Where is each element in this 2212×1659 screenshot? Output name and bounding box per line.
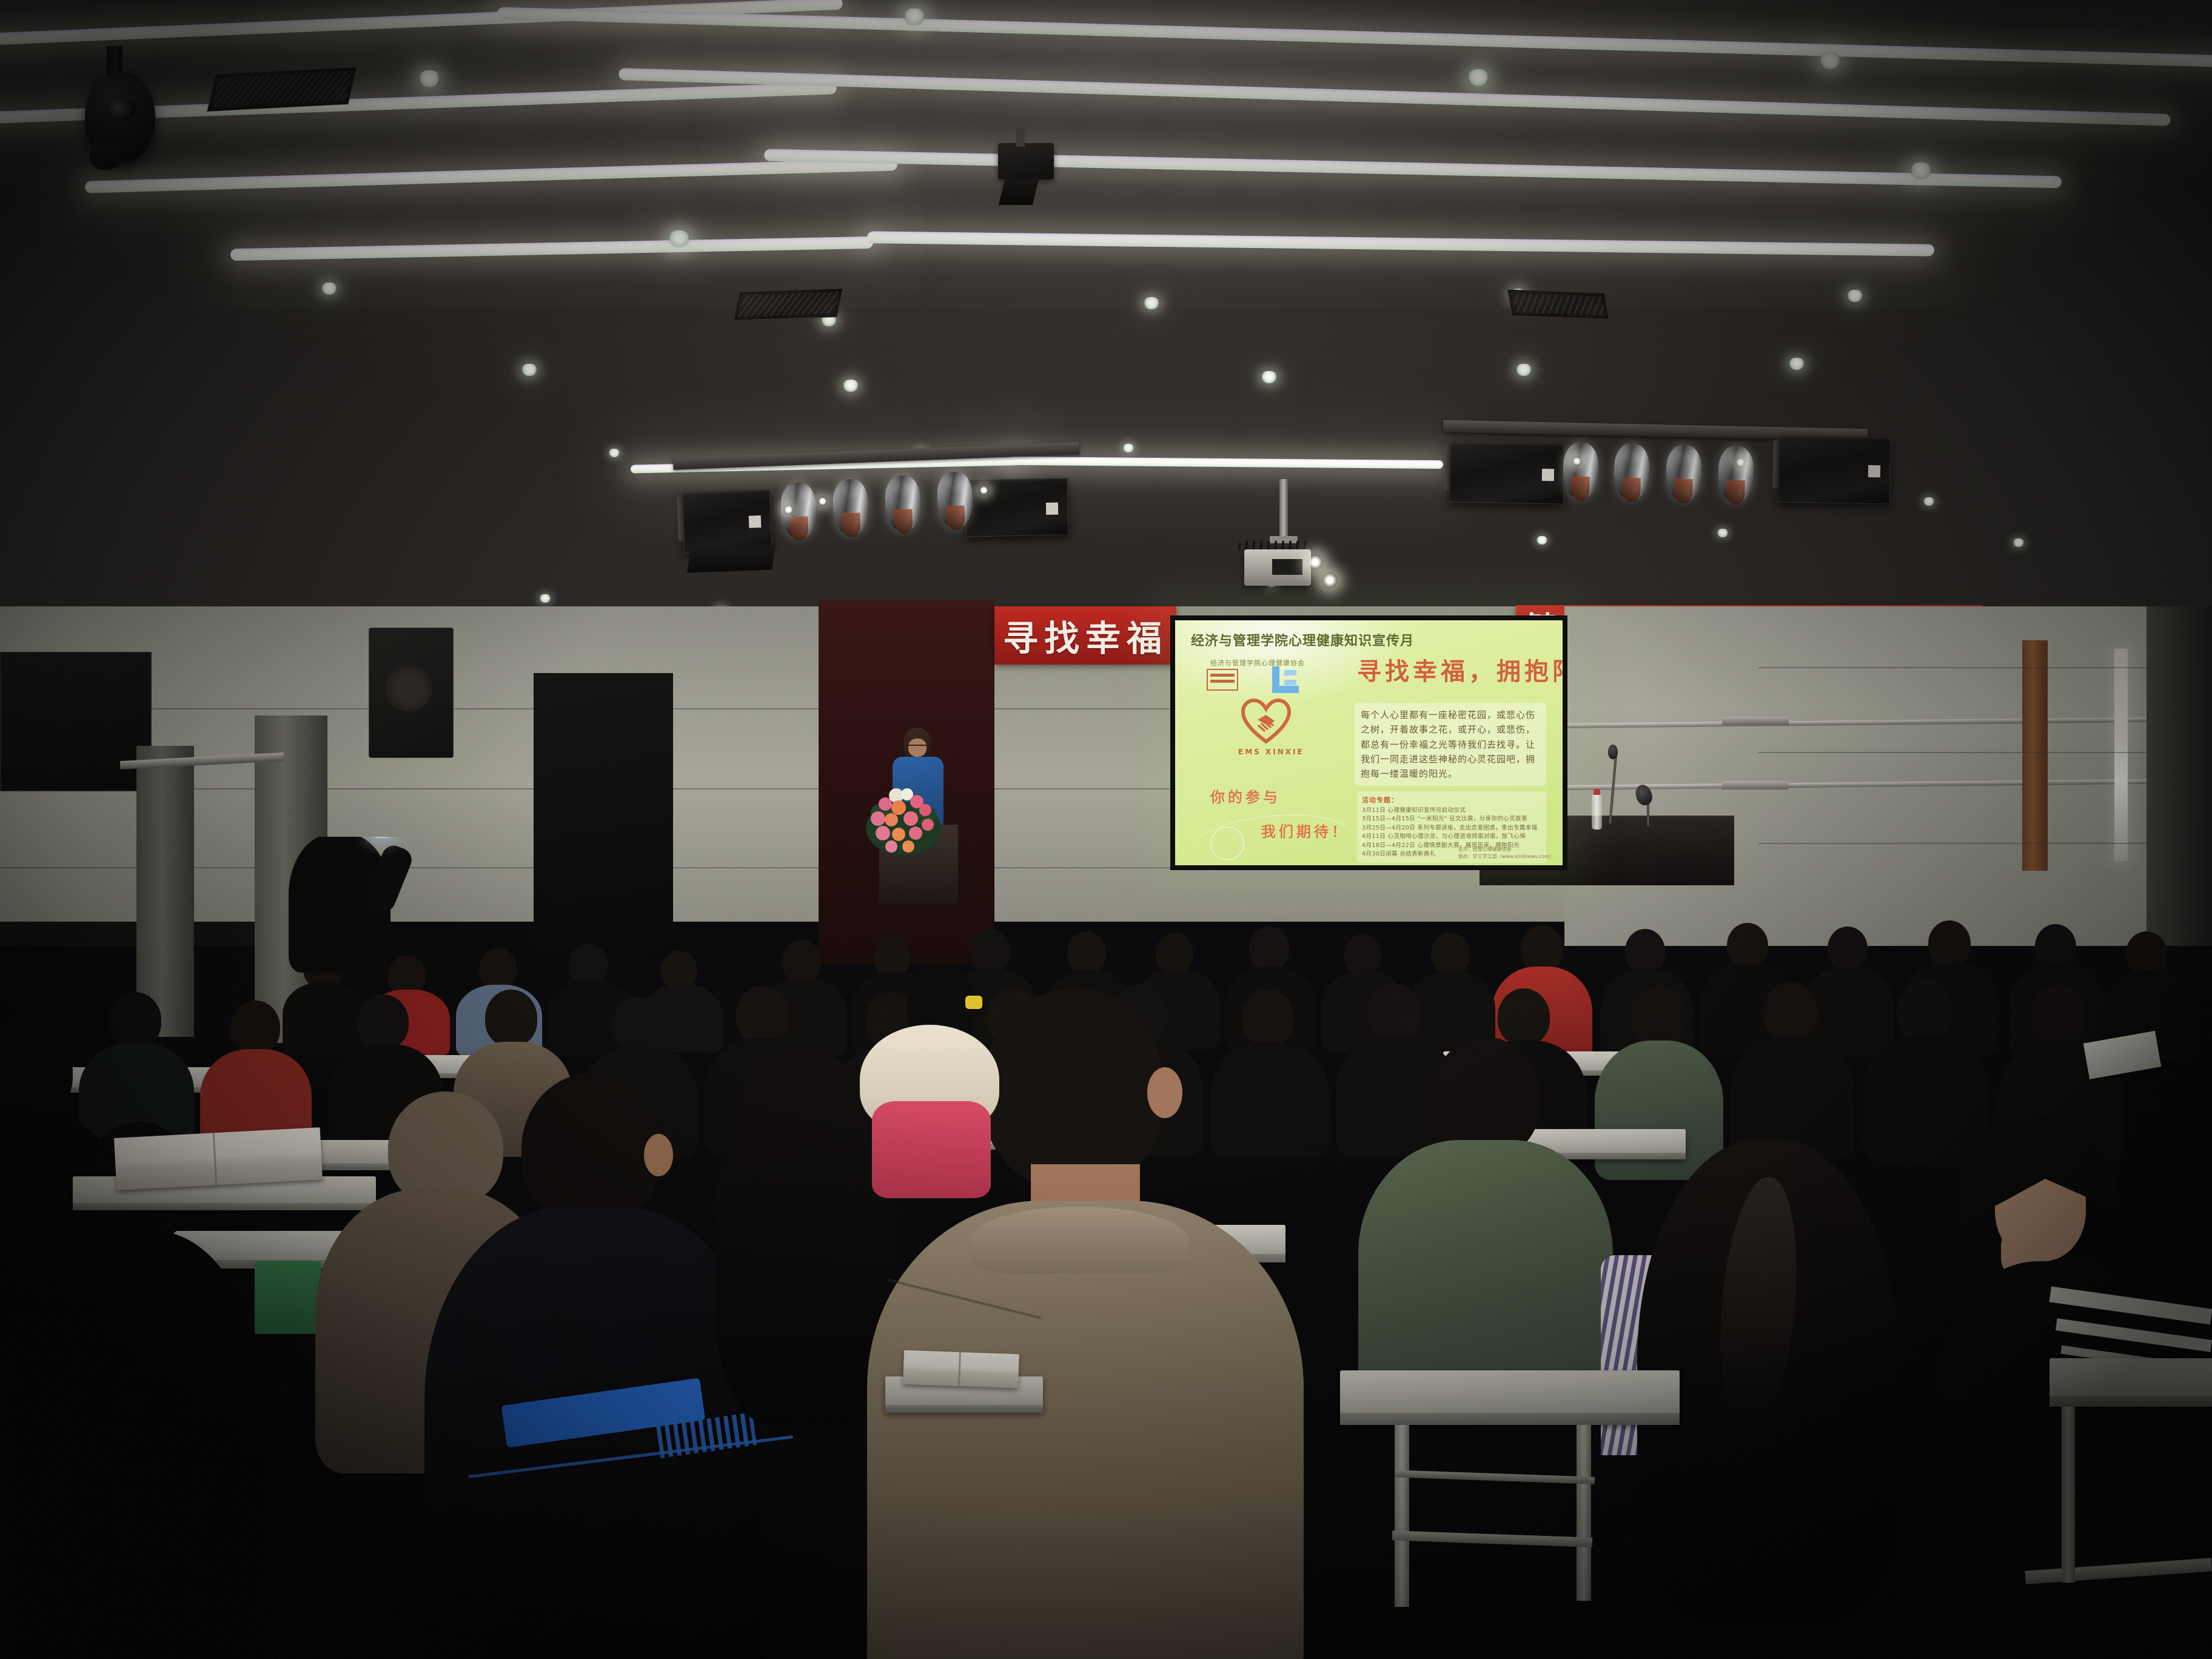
stage-reflector-lamp: [832, 478, 869, 535]
projection-screen-frame: 经济与管理学院心理健康知识宣传月 经济与管理学院心理健康协会 EMS XINXI…: [1170, 615, 1567, 870]
slide-logo-caption: EMS XINXIE: [1238, 748, 1304, 756]
ceiling-projector-small: [998, 143, 1054, 179]
audience-head: [230, 1000, 280, 1054]
ceiling-vent: [733, 288, 843, 321]
ceiling-projector-small-mount: [1016, 127, 1025, 147]
camera-lens-icon: [106, 97, 136, 121]
lamp-glint: [979, 485, 989, 495]
audience-head: [612, 997, 663, 1051]
ceiling-downlight: [1467, 69, 1489, 86]
projection-screen: 经济与管理学院心理健康知识宣传月 经济与管理学院心理健康协会 EMS XINXI…: [1175, 620, 1563, 865]
stage-reflector-lamp: [1563, 443, 1599, 499]
lamp-glint: [817, 496, 828, 506]
list-item: 3月15日—4月15日 "一米阳光" 征文比赛，分享你的心灵故事: [1362, 815, 1541, 823]
ceiling-downlight: [1847, 290, 1863, 302]
ceiling-downlight: [1789, 358, 1805, 370]
wall-seam: [994, 788, 1176, 789]
audience-head: [2126, 931, 2167, 975]
list-item: 3月11日 心理健康知识宣传月启动仪式: [1362, 806, 1541, 815]
ceiling-downlight: [1819, 52, 1841, 69]
slide-logo-box-icon: [1207, 669, 1238, 691]
hair-clip-icon: [965, 996, 982, 1009]
ceiling-downlight: [609, 449, 620, 457]
ceiling-downlight: [418, 70, 440, 87]
lamp-glint: [783, 504, 794, 515]
audience-head: [109, 992, 161, 1048]
camera-bracket: [90, 143, 121, 170]
stage-light-par: [1777, 435, 1891, 504]
chair[interactable]: [255, 1261, 321, 1334]
lamp-glint: [1572, 456, 1582, 466]
audience-head: [1828, 927, 1868, 970]
ceiling-downlight: [843, 380, 859, 392]
ceiling-downlight: [1910, 163, 1932, 179]
projector-indicator-glow: [1322, 572, 1338, 588]
audience-head: [1249, 927, 1289, 970]
audience-head: [1498, 988, 1550, 1045]
ceiling-downlight: [1144, 297, 1159, 309]
audience-head: [970, 929, 1010, 973]
audience-body: [283, 982, 367, 1055]
wall-seam: [994, 708, 1176, 709]
desk: [2049, 1358, 2212, 1407]
stage-reflector-lamp: [884, 475, 921, 532]
heart-handshake-logo-icon: [1241, 698, 1292, 745]
stage-light-par: [1449, 441, 1565, 504]
ceiling-downlight: [903, 8, 925, 25]
audience-head: [661, 951, 697, 990]
banner-left-text: 寻找幸福，拥: [1003, 610, 1176, 661]
audience-head: [1727, 923, 1768, 968]
audience-head: [358, 994, 409, 1049]
ceiling-downlight: [1516, 364, 1532, 376]
microphone-head-icon: [1608, 745, 1618, 759]
audience-body: [1210, 1042, 1329, 1157]
audience-head: [1928, 920, 1971, 967]
wall-light-strip: [2114, 649, 2128, 861]
ceiling-downlight: [540, 594, 551, 603]
audience-ear: [644, 1134, 673, 1176]
slide-schedule-heading: 活动专题：: [1362, 795, 1541, 805]
ceiling-downlight: [1537, 536, 1547, 545]
ceiling-vent: [207, 67, 357, 112]
ceiling-downlight: [1261, 371, 1277, 383]
audience-head: [873, 935, 911, 976]
ceiling-downlight: [1123, 444, 1134, 452]
ceiling-downlight: [2013, 538, 2024, 547]
banner-left: 寻找幸福，拥: [994, 606, 1176, 665]
slide-title: 经济与管理学院心理健康知识宣传月: [1191, 630, 1414, 649]
audience-head: [1897, 980, 1952, 1041]
audience-head: [736, 986, 789, 1044]
audience-head: [485, 990, 537, 1047]
desk-leg: [1395, 1425, 1409, 1607]
wall-seam: [1758, 752, 2212, 753]
desk-leg: [2062, 1407, 2075, 1583]
notebook-on-desk: [903, 1350, 1019, 1389]
projector-lens-glow: [1307, 554, 1323, 570]
lecture-hall-photo: 寻找幸福，拥 健康知识宣传月 济与管理学院心理健康协会 经济与管理学院心理健康知…: [0, 0, 2212, 1659]
ceiling-downlight: [1717, 529, 1728, 537]
ceiling-projector: [1244, 549, 1311, 586]
audience-head: [1625, 929, 1665, 973]
audience-head: [1631, 986, 1687, 1047]
door-right: [2022, 640, 2048, 871]
slide-headline: 寻找幸福，拥抱阳光: [1357, 652, 1563, 687]
audience-head: [2031, 985, 2086, 1044]
wall-seam: [1758, 667, 2212, 668]
stage-light-barndoor: [687, 544, 776, 572]
slide-logo-blue-icon: [1272, 666, 1299, 693]
audience-body: [12, 1231, 267, 1659]
ceiling-downlight: [521, 364, 537, 376]
list-item: 3月25日—4月20日 系列专题讲座，走出恋爱困惑，拿出专属幸福: [1362, 824, 1541, 833]
stage-reflector-lamp: [1666, 445, 1702, 501]
lamp-glint: [1735, 457, 1746, 468]
phone-screen[interactable]: [371, 837, 392, 838]
ceiling-downlight: [321, 283, 337, 295]
ceiling-vent: [1507, 289, 1610, 320]
audience-head: [982, 988, 1164, 1188]
audience-ear: [1147, 1067, 1182, 1118]
audience-head: [1521, 925, 1563, 971]
slide-cta-line1: 你的参与: [1210, 789, 1281, 806]
ceiling-downlight: [1923, 497, 1934, 506]
wall-loudspeaker: [369, 628, 454, 758]
audience-body: [1863, 1034, 1989, 1162]
stage-light-par: [682, 489, 772, 553]
desk-crossbar: [1392, 1530, 1592, 1547]
audience-head: [569, 943, 608, 986]
stage-reflector-lamp: [1614, 444, 1650, 500]
audience-head: [1156, 933, 1193, 974]
glasses-icon: [908, 745, 927, 749]
wall-display-panel: [0, 652, 152, 791]
desk: [1340, 1370, 1680, 1425]
ceiling-downlight: [668, 230, 690, 247]
audience-head: [1368, 984, 1421, 1043]
coat-collar: [970, 1207, 1188, 1273]
audience-head: [782, 940, 821, 982]
open-textbook: [114, 1127, 323, 1190]
water-bottle: [1592, 794, 1602, 829]
wall-rail-bracket: [1722, 717, 1789, 725]
audience-head: [1763, 982, 1818, 1042]
pink-dress: [872, 1101, 991, 1198]
desk-leg: [1577, 1425, 1591, 1601]
stage-reflector-lamp: [936, 471, 973, 528]
stage-reflector-lamp: [1718, 446, 1754, 503]
projector-pole: [1279, 479, 1288, 537]
audience-head: [1067, 931, 1106, 974]
audience-head: [1242, 990, 1294, 1045]
wall-rail-bracket: [1722, 781, 1789, 789]
desk-crossbar: [1395, 1470, 1595, 1484]
audience-head: [1344, 934, 1381, 975]
audience-head: [479, 948, 517, 990]
audience-head: [0, 1019, 73, 1122]
slide-body-text: 每个人心里都有一座秘密花园，或悲心伤之树，开着故事之花，或开心，或悲伤，都总有一…: [1355, 703, 1546, 786]
audience-head: [1431, 933, 1470, 975]
audience-head: [2035, 924, 2076, 969]
audience-area: [0, 837, 2212, 1659]
audience-head: [521, 1073, 661, 1225]
ceiling-projector-small-lens: [999, 179, 1039, 205]
